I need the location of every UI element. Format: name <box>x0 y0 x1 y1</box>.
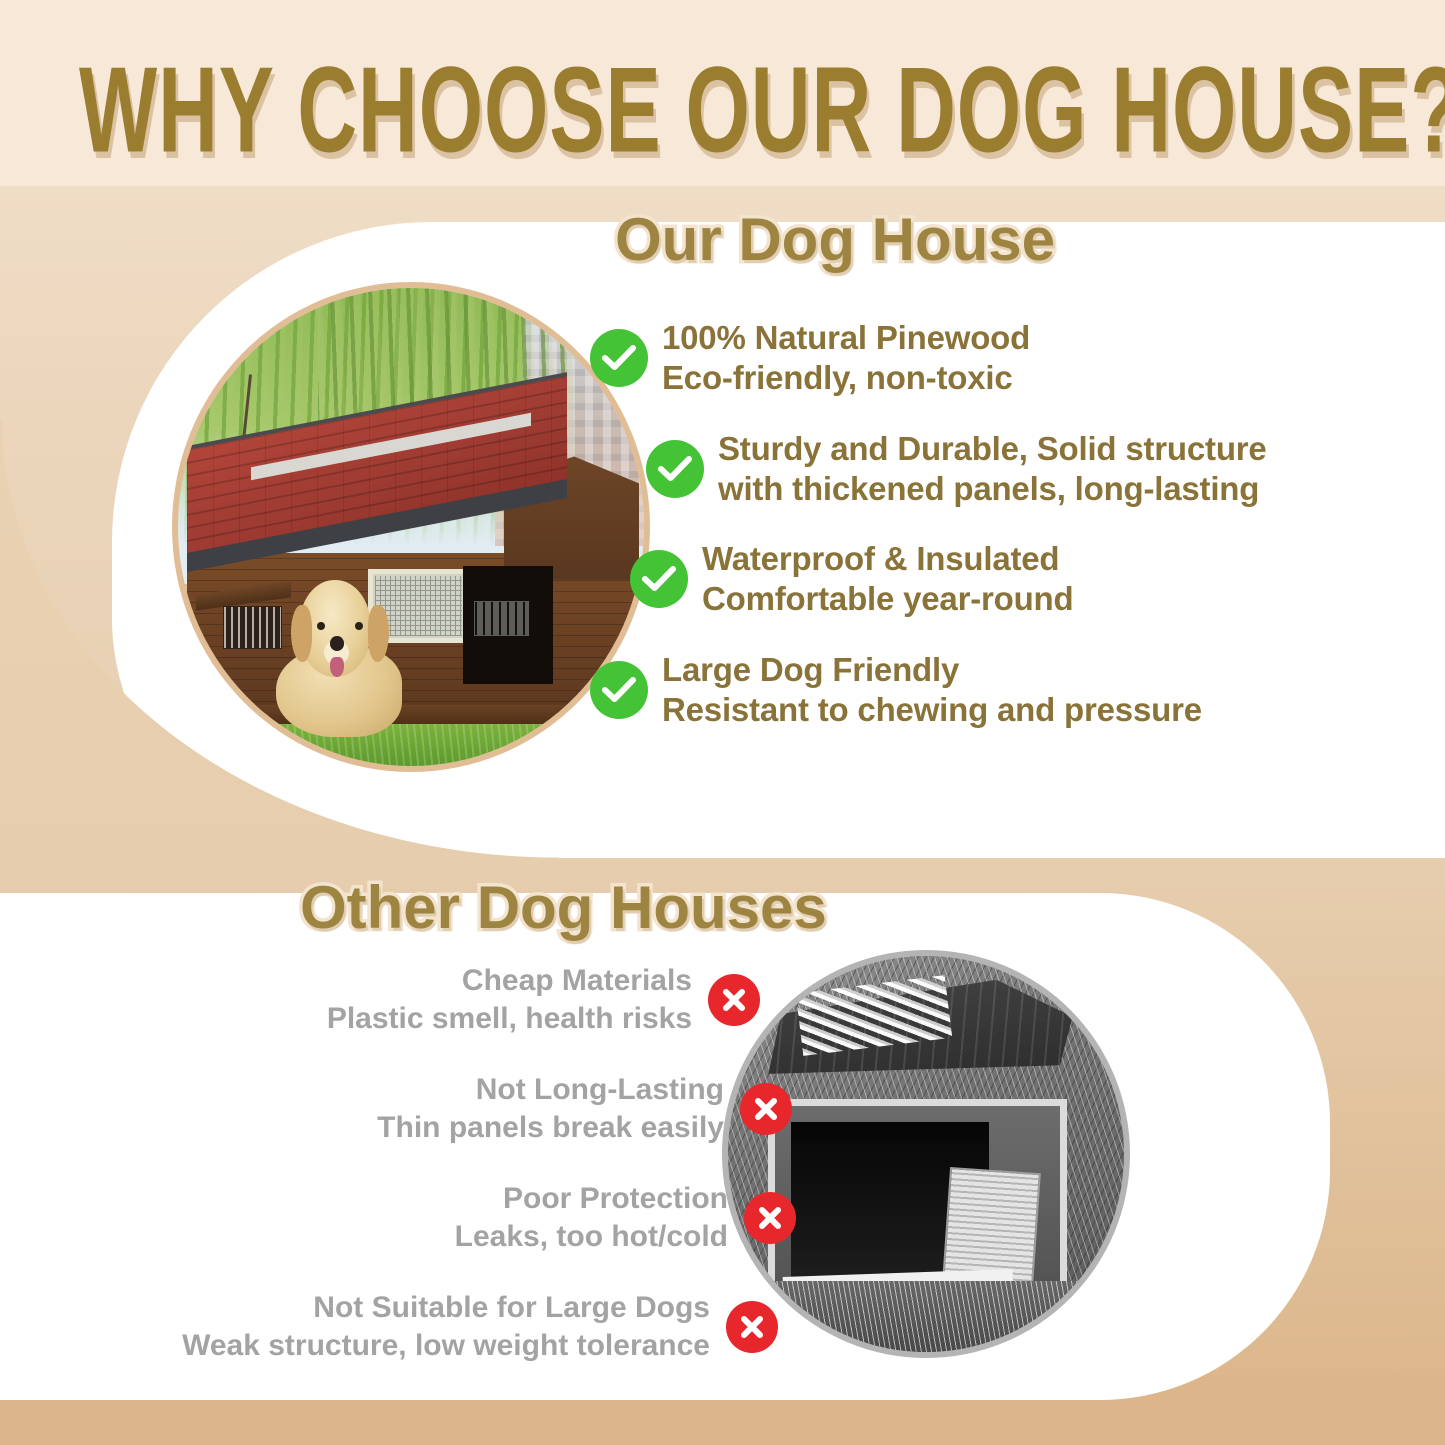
dry-grass <box>728 1281 1124 1352</box>
other-drawbacks-list: Cheap Materials Plastic smell, health ri… <box>100 962 760 1398</box>
dog-nose <box>330 636 344 650</box>
feature-line-2: Eco-friendly, non-toxic <box>662 358 1030 398</box>
title-container: WHY CHOOSE OUR DOG HOUSE?" <box>0 50 1445 142</box>
house-base <box>187 705 639 724</box>
drawback-line-2: Thin panels break easily <box>377 1109 724 1147</box>
drawback-row: Poor Protection Leaks, too hot/cold <box>100 1180 796 1255</box>
drawback-text: Poor Protection Leaks, too hot/cold <box>455 1180 728 1255</box>
check-icon <box>630 550 688 608</box>
our-dog-house-photo <box>158 268 664 786</box>
page-title: WHY CHOOSE OUR DOG HOUSE?" <box>79 50 1445 171</box>
feature-row: 100% Natural Pinewood Eco-friendly, non-… <box>590 318 1390 399</box>
drawback-line-1: Not Long-Lasting <box>377 1071 724 1109</box>
drawback-row: Not Long-Lasting Thin panels break easil… <box>100 1071 792 1146</box>
our-dog-house-heading: Our Dog House <box>615 210 1055 270</box>
drawback-line-2: Weak structure, low weight tolerance <box>182 1327 710 1365</box>
check-icon <box>590 329 648 387</box>
drawback-text: Not Long-Lasting Thin panels break easil… <box>377 1071 724 1146</box>
feature-row: Sturdy and Durable, Solid structure with… <box>646 429 1390 510</box>
photo-image-other <box>728 956 1124 1352</box>
infographic-stage: WHY CHOOSE OUR DOG HOUSE?" Our Dog House <box>0 0 1445 1445</box>
drawback-text: Cheap Materials Plastic smell, health ri… <box>327 962 692 1037</box>
drawback-line-1: Not Suitable for Large Dogs <box>182 1289 710 1327</box>
feature-line-2: Comfortable year-round <box>702 579 1073 619</box>
dog-ear-right <box>368 605 389 662</box>
feature-line-1: 100% Natural Pinewood <box>662 318 1030 358</box>
golden-retriever-dog <box>276 580 402 738</box>
dog-eye-left <box>317 622 325 630</box>
cross-icon <box>726 1301 778 1353</box>
cross-icon <box>708 974 760 1026</box>
dog-ear-left <box>291 605 312 662</box>
cross-icon <box>744 1192 796 1244</box>
dog-eye-right <box>355 622 363 630</box>
feature-line-2: with thickened panels, long-lasting <box>718 469 1267 509</box>
feature-line-1: Sturdy and Durable, Solid structure <box>718 429 1267 469</box>
feature-text: 100% Natural Pinewood Eco-friendly, non-… <box>662 318 1030 399</box>
scene-other <box>728 956 1124 1352</box>
door-window <box>474 601 528 636</box>
photo-image-our <box>178 288 644 766</box>
feature-row: Waterproof & Insulated Comfortable year-… <box>630 539 1390 620</box>
dog-house-structure <box>187 446 639 714</box>
drawback-line-2: Leaks, too hot/cold <box>455 1218 728 1256</box>
other-dog-houses-heading: Other Dog Houses <box>300 878 827 938</box>
feature-text: Waterproof & Insulated Comfortable year-… <box>702 539 1073 620</box>
check-icon <box>590 661 648 719</box>
feature-text: Large Dog Friendly Resistant to chewing … <box>662 650 1202 731</box>
feature-text: Sturdy and Durable, Solid structure with… <box>718 429 1267 510</box>
scene-our <box>178 288 644 766</box>
drawback-line-2: Plastic smell, health risks <box>327 1000 692 1038</box>
our-features-list: 100% Natural Pinewood Eco-friendly, non-… <box>590 318 1390 760</box>
feature-line-1: Large Dog Friendly <box>662 650 1202 690</box>
drawback-line-1: Cheap Materials <box>327 962 692 1000</box>
drawback-row: Not Suitable for Large Dogs Weak structu… <box>100 1289 778 1364</box>
drawback-line-1: Poor Protection <box>455 1180 728 1218</box>
feature-row: Large Dog Friendly Resistant to chewing … <box>590 650 1390 731</box>
cross-icon <box>740 1083 792 1135</box>
feature-line-2: Resistant to chewing and pressure <box>662 690 1202 730</box>
small-barred-window <box>223 606 282 649</box>
dog-tongue <box>330 657 344 678</box>
drawback-text: Not Suitable for Large Dogs Weak structu… <box>182 1289 710 1364</box>
drawback-row: Cheap Materials Plastic smell, health ri… <box>100 962 760 1037</box>
check-icon <box>646 440 704 498</box>
feature-line-1: Waterproof & Insulated <box>702 539 1073 579</box>
